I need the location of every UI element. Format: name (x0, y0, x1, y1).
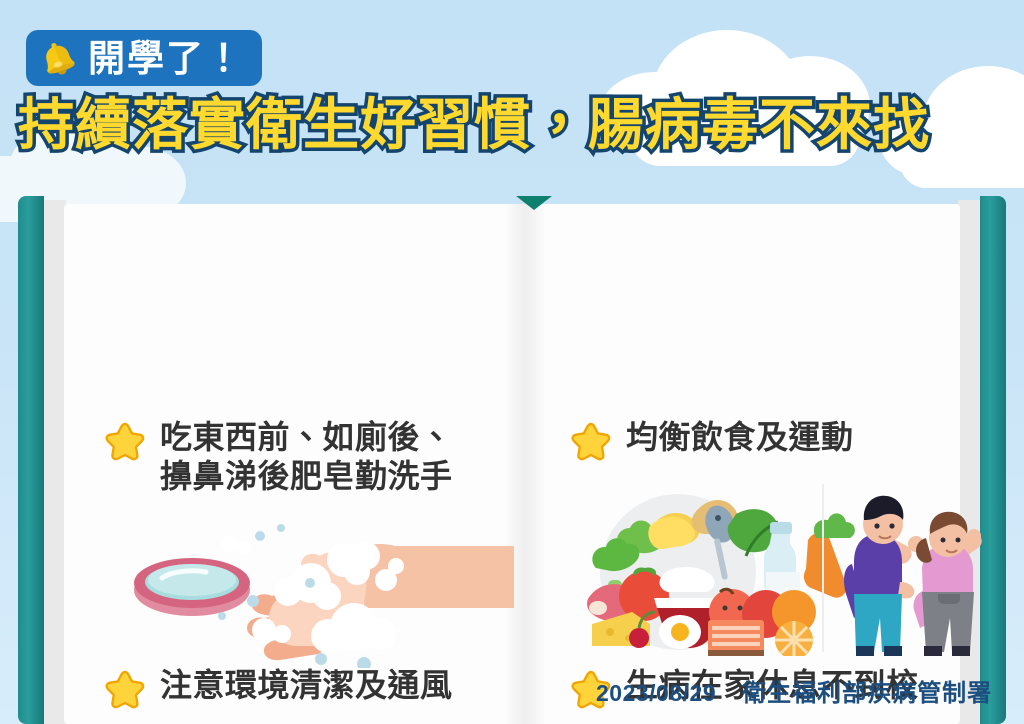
star-icon (100, 668, 150, 718)
book-liner-left (44, 200, 66, 724)
book-cover-left (18, 196, 44, 724)
school-start-badge: 開學了！ (26, 30, 262, 86)
badge-label: 開學了！ (88, 40, 244, 77)
open-book: 吃東西前、如廁後、 擤鼻涕後肥皂勤洗手 (18, 196, 1006, 724)
tip-label: 注意環境清潔及通風 (160, 666, 453, 705)
star-icon (100, 420, 150, 470)
agency-name: 衛生福利部疾病管制署 (742, 673, 992, 708)
food-and-exercise-illustration (570, 480, 990, 656)
tip-heading: 吃東西前、如廁後、 擤鼻涕後肥皂勤洗手 (100, 418, 520, 496)
poster-canvas: 開學了！ 持續落實衛生好習慣，腸病毒不來找 吃東西前、如廁後、 擤鼻涕後肥皂勤洗… (0, 0, 1024, 724)
tip-label: 吃東西前、如廁後、 擤鼻涕後肥皂勤洗手 (160, 418, 453, 496)
tip-clean-environment: 注意環境清潔及通風 (100, 666, 520, 724)
handwashing-illustration (114, 508, 514, 668)
poster-header: 開學了！ 持續落實衛生好習慣，腸病毒不來找 (0, 0, 1024, 190)
book-spine-notch (516, 196, 552, 210)
star-icon (566, 420, 616, 470)
tip-heading: 均衡飲食及運動 (566, 418, 996, 470)
publish-date: 2023/08/29 (596, 680, 716, 707)
tip-heading: 注意環境清潔及通風 (100, 666, 520, 718)
bell-icon (38, 38, 78, 78)
footer: 2023/08/29 衛生福利部疾病管制署 (596, 673, 992, 708)
page-title: 持續落實衛生好習慣，腸病毒不來找 (18, 96, 930, 155)
tip-balanced-diet: 均衡飲食及運動 (566, 418, 996, 661)
tip-label: 均衡飲食及運動 (626, 418, 854, 457)
tip-wash-hands: 吃東西前、如廁後、 擤鼻涕後肥皂勤洗手 (100, 418, 520, 673)
